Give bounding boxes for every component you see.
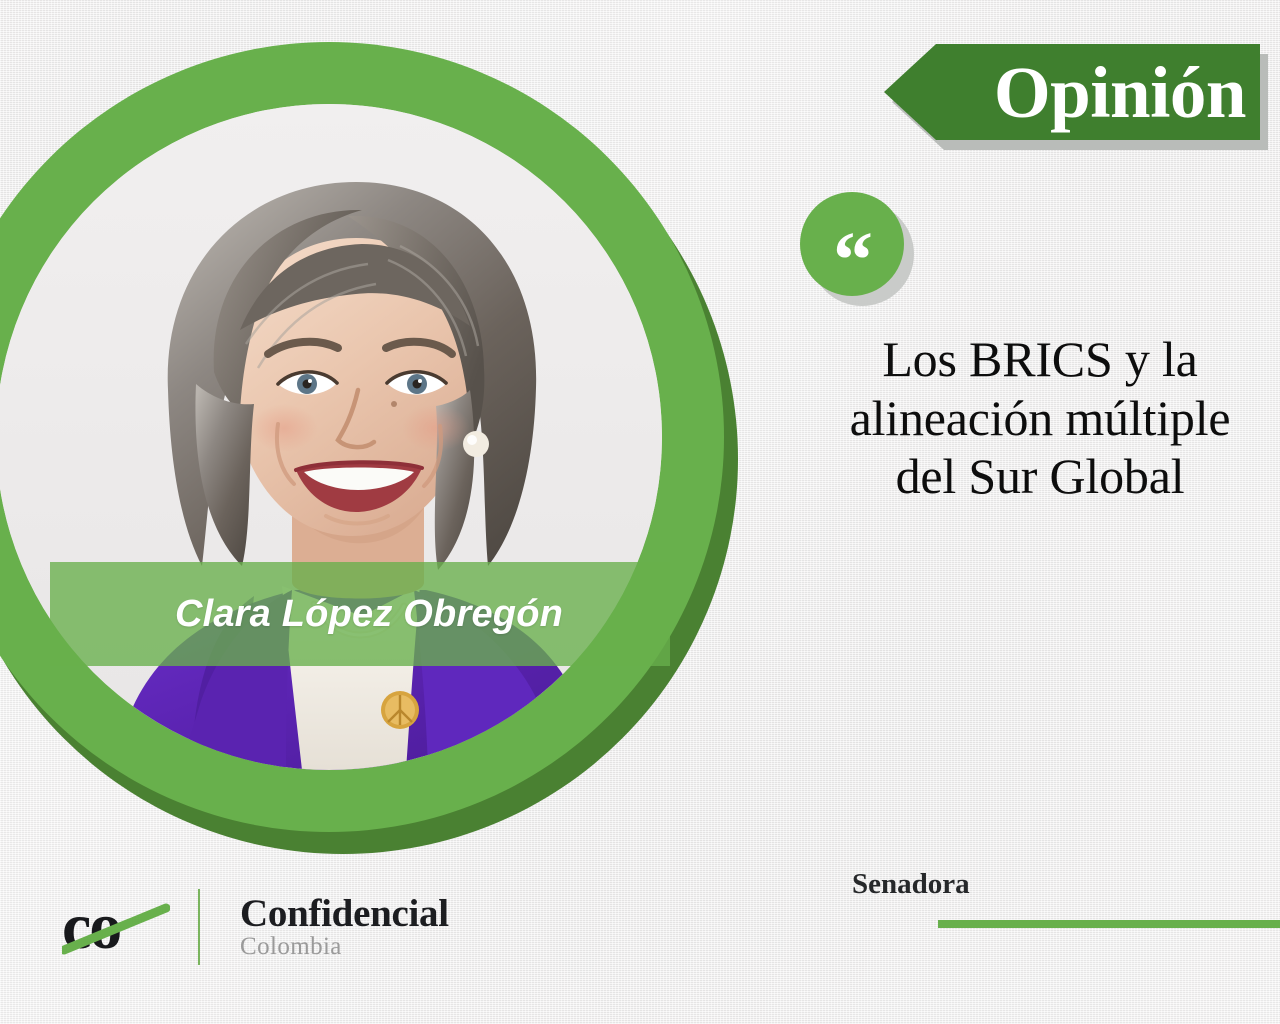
portrait-photo	[0, 104, 662, 770]
author-role-label: Senadora	[852, 870, 1280, 899]
portrait-name-band: Clara López Obregón	[50, 562, 670, 666]
opinion-banner-ribbon: Opinión	[884, 44, 1260, 140]
quote-badge: “	[800, 192, 924, 316]
opinion-social-card: Clara López Obregón Opinión “ Los BRICS …	[0, 0, 1280, 1024]
wordmark-secondary: Colombia	[240, 934, 449, 960]
author-role-rule	[938, 920, 1280, 928]
co-monogram-icon: co	[62, 894, 170, 960]
logo-divider	[198, 889, 200, 965]
opinion-banner-label: Opinión	[994, 56, 1260, 129]
portrait-ring-group: Clara López Obregón	[0, 42, 770, 878]
brand-logo: co Confidencial Colombia	[62, 884, 449, 970]
quote-mark-icon: “	[800, 192, 904, 296]
author-name: Clara López Obregón	[50, 593, 670, 636]
opinion-banner: Opinión	[884, 44, 1280, 156]
author-role-block: Senadora	[852, 870, 1280, 899]
logo-wordmark: Confidencial Colombia	[240, 894, 449, 960]
wordmark-primary: Confidencial	[240, 894, 449, 934]
quote-glyph: “	[833, 221, 871, 301]
headline-title: Los BRICS y la alineación múltiple del S…	[830, 330, 1250, 506]
